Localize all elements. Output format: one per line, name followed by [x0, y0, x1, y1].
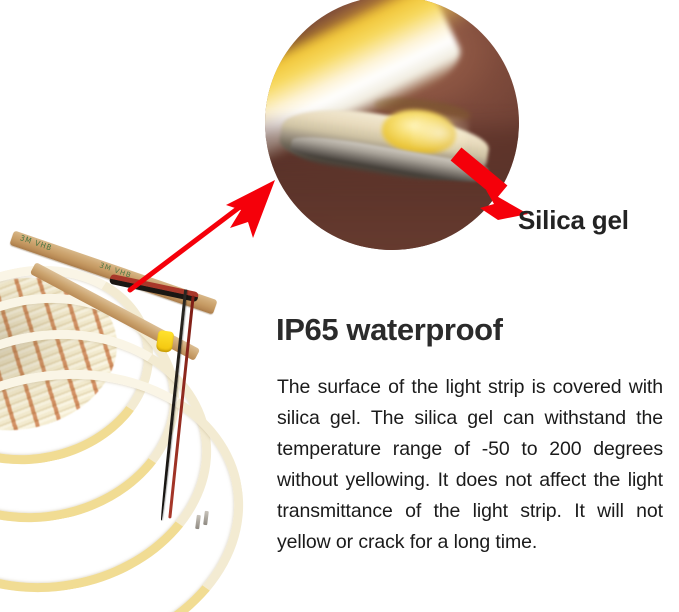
- product-feature-image: 3M VHB 3M VHB Silica gel IP65 waterproof…: [0, 0, 679, 612]
- feature-description: The surface of the light strip is covere…: [277, 372, 663, 558]
- coil-loop-4: [0, 344, 264, 612]
- silica-gel-label: Silica gel: [518, 205, 629, 236]
- arrow-to-macro-inset: [125, 180, 305, 300]
- strip-print-1: 3M VHB: [19, 234, 54, 253]
- yellow-wire-clip: [156, 330, 175, 353]
- feature-heading: IP65 waterproof: [276, 312, 503, 348]
